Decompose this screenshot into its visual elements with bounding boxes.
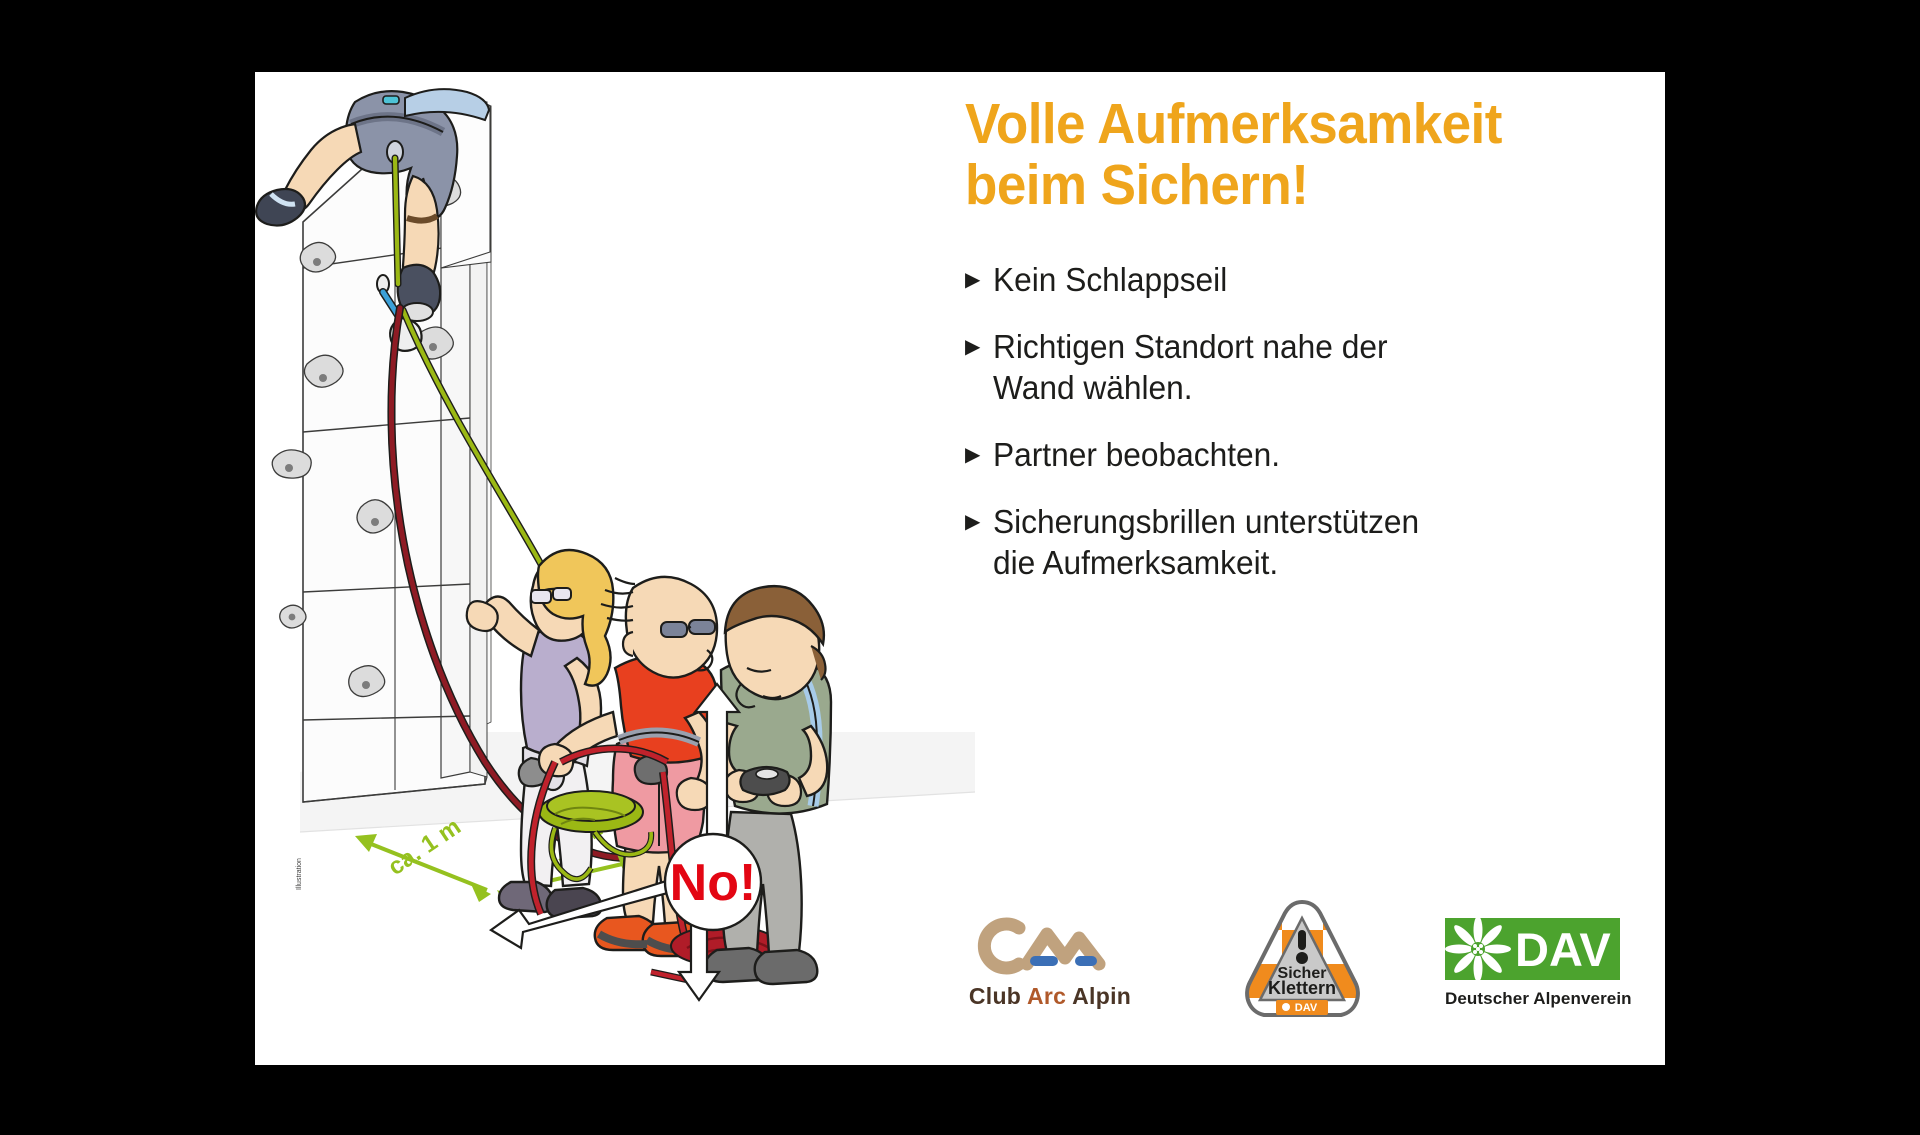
illustration-credit: Illustration	[296, 858, 303, 890]
logo-bar: Club Arc Alpin	[945, 892, 1655, 1042]
bullet-triangle-icon: ▶	[965, 270, 980, 290]
dav-subtitle: Deutscher Alpenverein	[1445, 989, 1650, 1009]
title-line-1: Volle Aufmerksamkeit	[965, 94, 1607, 155]
list-item: ▶ Kein Schlappseil	[965, 260, 1655, 301]
caa-word-club: Club	[969, 983, 1021, 1009]
sk-line-2: Klettern	[1268, 978, 1336, 998]
bullet-triangle-icon: ▶	[965, 445, 980, 465]
caa-word-alpin: Alpin	[1072, 983, 1131, 1009]
logo-sicher-klettern: Sicher Klettern DAV	[1240, 896, 1365, 1026]
title-line-2: beim Sichern!	[965, 155, 1607, 216]
bullet-triangle-icon: ▶	[965, 512, 980, 532]
poster-canvas: ca. 1 m ca. 1 m Illustration	[0, 0, 1920, 1135]
list-item-label: Partner beobachten.	[993, 435, 1280, 476]
text-column: Volle Aufmerksamkeit beim Sichern! ▶ Kei…	[965, 94, 1655, 609]
sk-dav-tag: DAV	[1295, 1002, 1318, 1014]
no-warning-text: No!	[670, 854, 757, 912]
page-title: Volle Aufmerksamkeit beim Sichern!	[965, 94, 1607, 216]
poster-slide: ca. 1 m ca. 1 m Illustration	[255, 72, 1665, 1065]
dav-abbr: DAV	[1515, 923, 1611, 976]
list-item: ▶ Sicherungsbrillen unterstützen die Auf…	[965, 502, 1655, 584]
caa-word-arc: Arc	[1027, 983, 1066, 1009]
list-item-label: Richtigen Standort nahe der Wand wählen.	[993, 327, 1388, 409]
list-item: ▶ Partner beobachten.	[965, 435, 1655, 476]
bullet-triangle-icon: ▶	[965, 337, 980, 357]
list-item-label: Kein Schlappseil	[993, 260, 1227, 301]
caa-mark-icon	[975, 914, 1125, 976]
no-warning-bubble: No!	[665, 834, 761, 930]
edelweiss-icon	[1445, 918, 1511, 980]
logo-dav: DAV Deutscher Alpenverein	[1445, 918, 1650, 1009]
safety-tips-list: ▶ Kein Schlappseil ▶ Richtigen Standort …	[965, 260, 1655, 583]
rope-coil-green	[539, 791, 643, 832]
caa-wordmark: Club Arc Alpin	[955, 983, 1145, 1010]
smartphone	[740, 767, 789, 795]
logo-club-arc-alpin: Club Arc Alpin	[955, 914, 1145, 1010]
list-item: ▶ Richtigen Standort nahe der Wand wähle…	[965, 327, 1655, 409]
list-item-label: Sicherungsbrillen unterstützen die Aufme…	[993, 502, 1419, 584]
climbing-illustration: ca. 1 m ca. 1 m Illustration	[255, 72, 975, 1065]
